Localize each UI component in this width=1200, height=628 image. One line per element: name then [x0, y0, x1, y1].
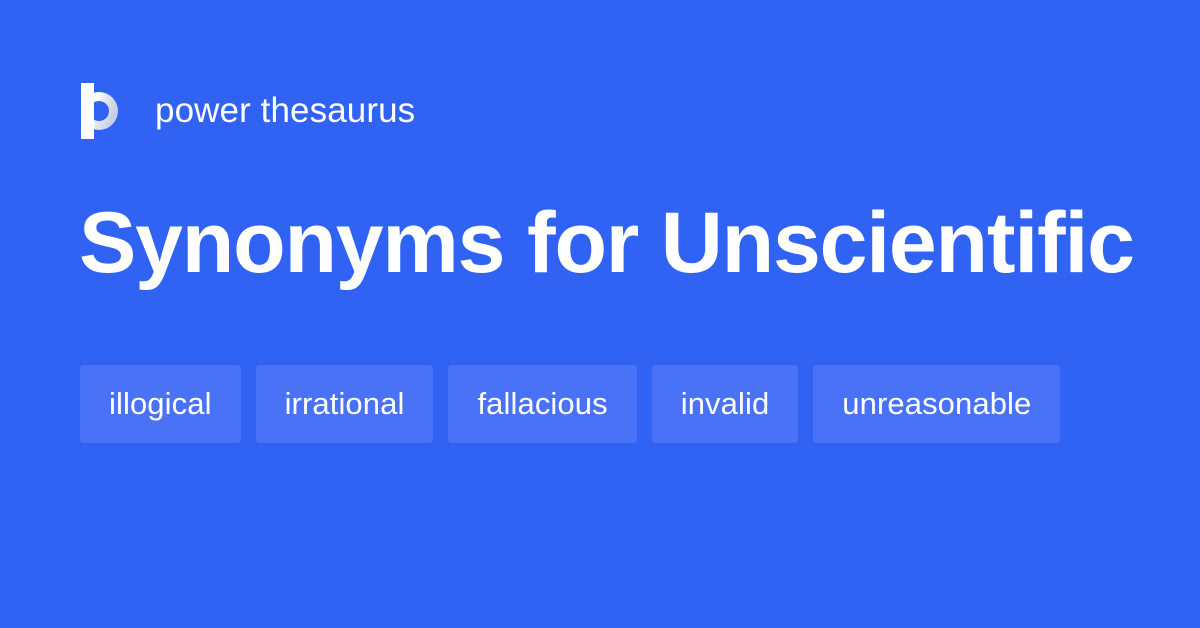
synonym-chip[interactable]: invalid: [652, 365, 799, 443]
synonym-chip[interactable]: fallacious: [448, 365, 636, 443]
brand-name: power thesaurus: [155, 91, 415, 131]
synonym-chip[interactable]: irrational: [256, 365, 434, 443]
synonym-chip-list: illogical irrational fallacious invalid …: [80, 365, 1120, 443]
share-card: power thesaurus Synonyms for Unscientifi…: [0, 0, 1200, 628]
synonym-chip[interactable]: illogical: [80, 365, 241, 443]
power-thesaurus-b-logo-icon: [81, 83, 127, 139]
page-title: Synonyms for Unscientific: [79, 193, 1134, 293]
synonym-chip[interactable]: unreasonable: [813, 365, 1060, 443]
brand-lockup[interactable]: power thesaurus: [81, 81, 415, 141]
